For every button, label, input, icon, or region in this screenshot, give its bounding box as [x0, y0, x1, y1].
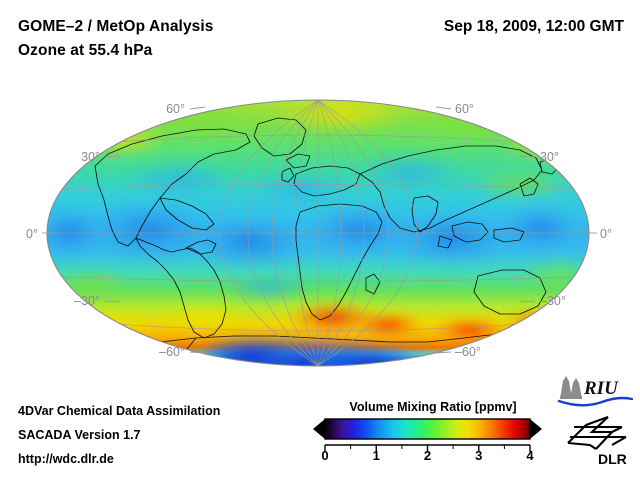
cathedral-spires-icon [560, 376, 582, 399]
dlr-logo: DLR [566, 415, 632, 467]
footer-link[interactable]: http://wdc.dlr.de [18, 452, 114, 466]
dlr-wordmark: DLR [598, 451, 627, 467]
colorbar: 0 1 2 3 4 [305, 418, 550, 470]
colorbar-tick-3: 3 [475, 448, 482, 463]
dlr-bird-icon [568, 417, 626, 449]
colorbar-tick-0: 0 [321, 448, 328, 463]
colorbar-tick-4: 4 [526, 448, 533, 463]
colorbar-min-arrow [313, 419, 325, 439]
lat-label-left-m60: –60° [159, 345, 185, 359]
colorbar-title: Volume Mixing Ratio [ppmv] [333, 400, 533, 414]
riu-swoosh-icon [559, 398, 632, 405]
timestamp-label: Sep 18, 2009, 12:00 GMT [444, 18, 624, 36]
lat-label-left-30: 30° [81, 150, 100, 164]
colorbar-max-arrow [530, 419, 542, 439]
lat-label-right-m60: –60° [455, 345, 481, 359]
lat-label-left-60: 60° [166, 102, 185, 116]
ozone-data-field [28, 94, 600, 380]
colorbar-gradient [325, 419, 530, 439]
lat-label-right-m30: –30° [540, 294, 566, 308]
ozone-map: 60° 30° 0° –30° –60° 60° 30° 0° –30° –60… [0, 80, 640, 380]
riu-wordmark: RIU [583, 378, 619, 399]
footer-line-1: 4DVar Chemical Data Assimilation [18, 404, 220, 418]
colorbar-tick-1: 1 [373, 448, 380, 463]
lat-label-right-0: 0° [600, 227, 612, 241]
page-subtitle: Ozone at 55.4 hPa [18, 42, 152, 60]
colorbar-tick-2: 2 [424, 448, 431, 463]
riu-logo: RIU [556, 375, 634, 409]
lat-label-right-60: 60° [455, 102, 474, 116]
page-title: GOME–2 / MetOp Analysis [18, 18, 214, 36]
lat-label-right-30: 30° [540, 150, 559, 164]
footer-line-2: SACADA Version 1.7 [18, 428, 141, 442]
lat-label-left-0: 0° [26, 227, 38, 241]
lat-label-left-m30: –30° [74, 294, 100, 308]
